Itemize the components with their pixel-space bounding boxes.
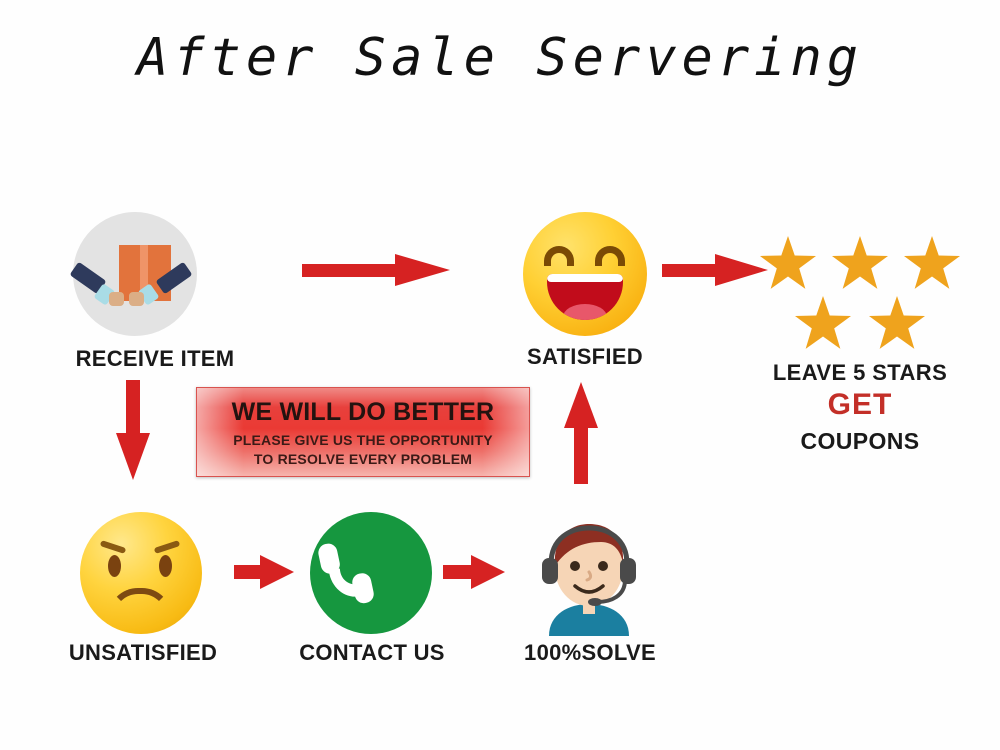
phone-handset-icon xyxy=(317,538,379,608)
sad-eye-right-icon xyxy=(159,555,172,577)
happy-eye-left-icon xyxy=(544,246,574,266)
sad-brow-left-icon xyxy=(100,540,127,554)
receive-item-label: RECEIVE ITEM xyxy=(55,346,255,372)
star-icon xyxy=(869,296,925,350)
star-icon xyxy=(795,296,851,350)
banner-subline-2: TO RESOLVE EVERY PROBLEM xyxy=(197,451,529,467)
sad-face-icon xyxy=(80,512,202,634)
arrow-receive-to-unsatisfied-icon xyxy=(108,378,168,483)
arrow-contact-to-solve-icon xyxy=(443,552,513,594)
flow-node-satisfied: SATISFIED xyxy=(500,212,670,372)
happy-mouth-icon xyxy=(547,274,623,320)
sad-brow-right-icon xyxy=(154,540,181,554)
we-will-do-better-banner: WE WILL DO BETTER PLEASE GIVE US THE OPP… xyxy=(196,387,530,477)
flow-node-receive-item: RECEIVE ITEM xyxy=(55,212,255,372)
unsatisfied-label: UNSATISFIED xyxy=(58,640,228,666)
banner-headline: WE WILL DO BETTER xyxy=(197,398,529,427)
flow-node-contact-us: CONTACT US xyxy=(287,512,457,677)
left-hand-icon xyxy=(109,292,124,306)
star-icon xyxy=(904,236,960,290)
sad-mouth-icon xyxy=(108,588,172,618)
flow-node-unsatisfied: UNSATISFIED xyxy=(58,512,228,677)
contact-us-label: CONTACT US xyxy=(287,640,457,666)
happy-eye-right-icon xyxy=(595,246,625,266)
right-hand-icon xyxy=(129,292,144,306)
star-row-bottom xyxy=(745,296,975,350)
arrow-solve-to-satisfied-icon xyxy=(555,378,615,488)
headset-support-agent-icon xyxy=(525,514,653,636)
get-label: GET xyxy=(745,388,975,422)
solve-label: 100%SOLVE xyxy=(505,640,675,666)
infographic-canvas: After Sale Servering RECEIVE ITEM SATISF… xyxy=(0,0,1000,750)
arrow-receive-to-satisfied-icon xyxy=(300,250,460,290)
star-icon xyxy=(760,236,816,290)
coupons-label: COUPONS xyxy=(745,428,975,455)
banner-subline-1: PLEASE GIVE US THE OPPORTUNITY xyxy=(197,432,529,448)
leave-5-stars-label: LEAVE 5 STARS xyxy=(745,360,975,386)
five-stars-group: LEAVE 5 STARS GET COUPONS xyxy=(745,236,975,466)
laughing-face-icon xyxy=(523,212,647,336)
flow-node-solve: 100%SOLVE xyxy=(505,512,675,677)
satisfied-label: SATISFIED xyxy=(500,344,670,370)
sad-eye-left-icon xyxy=(108,555,121,577)
star-icon xyxy=(832,236,888,290)
page-title: After Sale Servering xyxy=(0,28,1000,88)
star-row-top xyxy=(745,236,975,290)
